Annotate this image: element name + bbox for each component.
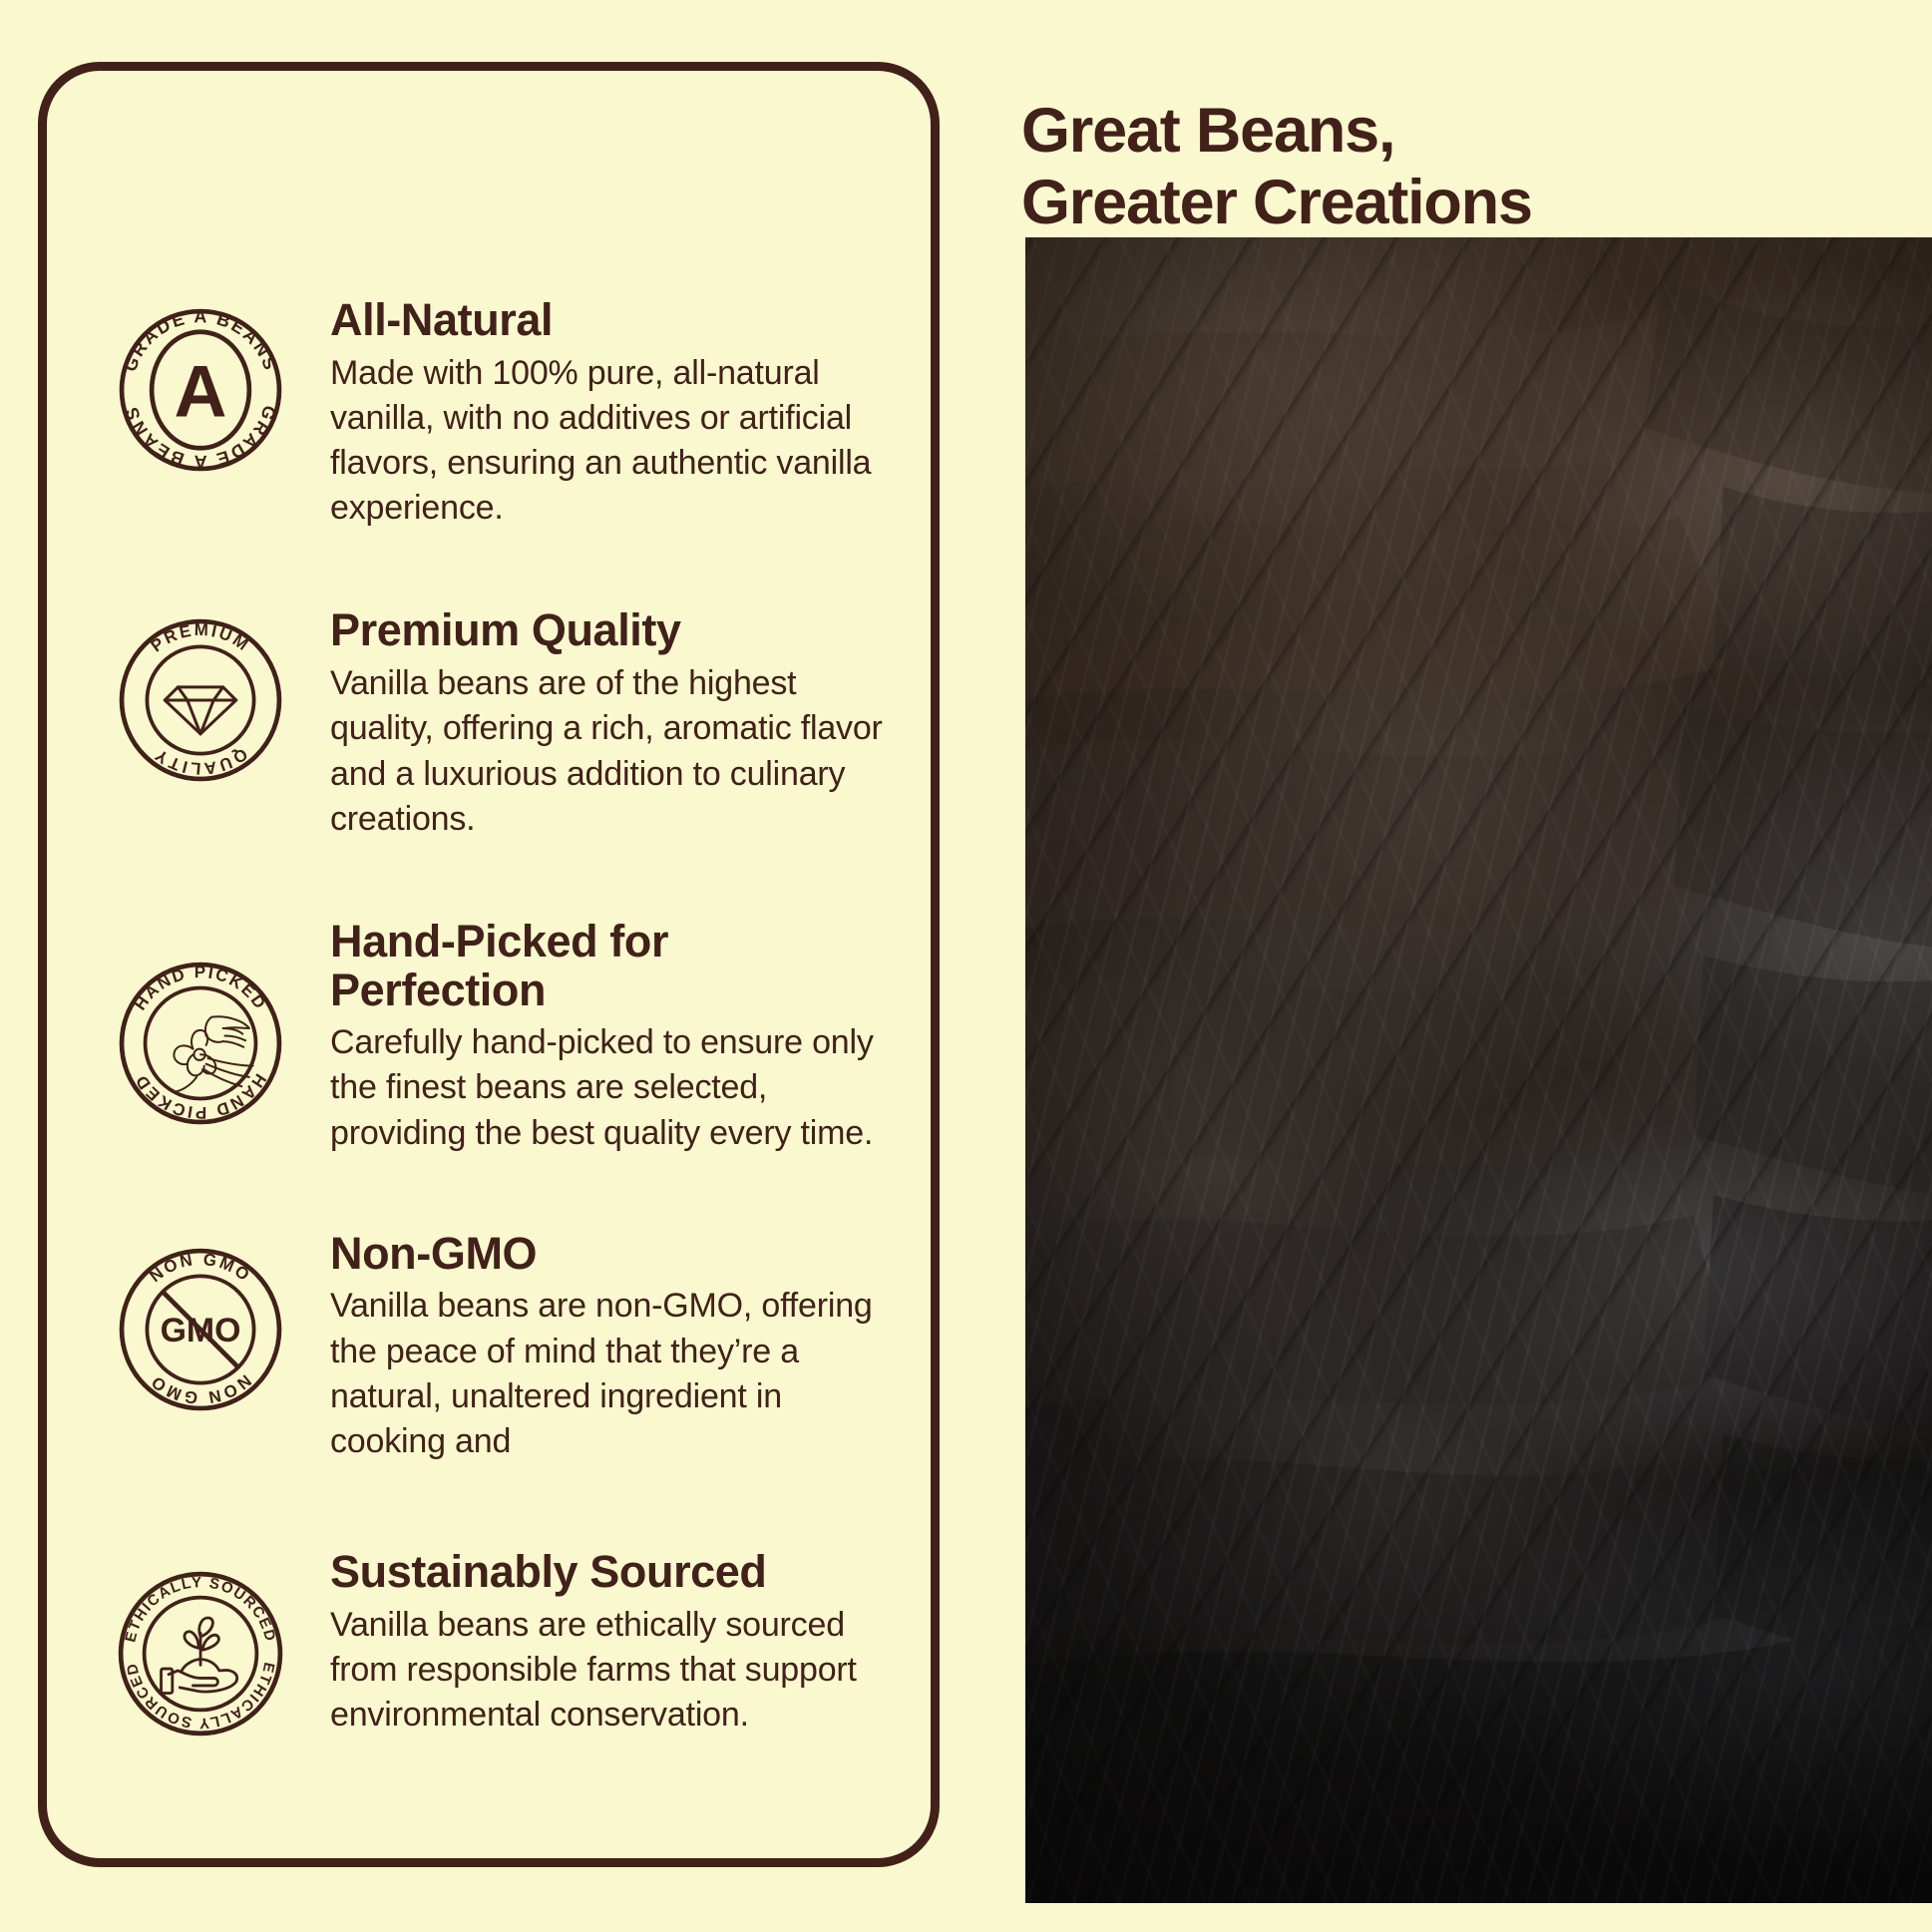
badge-top-text: PREMIUM — [148, 620, 254, 655]
feature-description: Vanilla beans are ethically sourced from… — [330, 1603, 891, 1739]
feature-title: Sustainably Sourced — [330, 1548, 891, 1597]
feature-item-sustainably-sourced: ETHICALLY SOURCED ETHICALLY SOURCED — [107, 1542, 891, 1747]
feature-title: Hand-Picked for Perfection — [330, 918, 891, 1014]
hand-holding-sprout-icon — [162, 1618, 237, 1693]
feature-text-block: Premium Quality Vanilla beans are of the… — [330, 600, 891, 841]
badge-bottom-text: NON GMO — [146, 1370, 254, 1407]
svg-text:HAND PICKED: HAND PICKED — [131, 1070, 270, 1122]
svg-text:NON GMO: NON GMO — [146, 1370, 254, 1407]
feature-list: GRADE A BEANS GRADE A BEANS A All-Natura… — [47, 71, 931, 1858]
right-column: Great Beans, Greater Creations — [1009, 0, 1932, 1932]
headline-line-1: Great Beans, — [1021, 96, 1919, 168]
badge-top-text: NON GMO — [146, 1250, 254, 1286]
non-gmo-badge: NON GMO NON GMO GMO — [107, 1236, 294, 1423]
feature-text-block: Hand-Picked for Perfection Carefully han… — [330, 912, 891, 1156]
feature-text-block: Non-GMO Vanilla beans are non-GMO, offer… — [330, 1224, 891, 1464]
feature-title: Premium Quality — [330, 606, 891, 655]
diamond-icon — [165, 687, 235, 734]
feature-description: Vanilla beans are non-GMO, offering the … — [330, 1284, 891, 1464]
feature-item-non-gmo: NON GMO NON GMO GMO Non-GMO Vanilla bean… — [107, 1224, 891, 1464]
photo-vignette — [1025, 237, 1932, 1903]
svg-text:PREMIUM: PREMIUM — [148, 620, 254, 655]
grade-a-beans-badge: GRADE A BEANS GRADE A BEANS A — [107, 296, 294, 484]
svg-text:NON GMO: NON GMO — [146, 1250, 254, 1286]
feature-description: Vanilla beans are of the highest quality… — [330, 661, 891, 842]
feature-description: Made with 100% pure, all-natural vanilla… — [330, 351, 891, 532]
infographic-page: GRADE A BEANS GRADE A BEANS A All-Natura… — [0, 0, 1932, 1932]
badge-center-letter: A — [175, 350, 227, 432]
page-headline: Great Beans, Greater Creations — [1021, 96, 1919, 239]
feature-title: Non-GMO — [330, 1230, 891, 1279]
feature-text-block: Sustainably Sourced Vanilla beans are et… — [330, 1542, 891, 1738]
feature-description: Carefully hand-picked to ensure only the… — [330, 1020, 891, 1156]
hand-picked-badge: HAND PICKED HAND PICKED — [107, 950, 294, 1137]
features-card: GRADE A BEANS GRADE A BEANS A All-Natura… — [38, 62, 940, 1867]
feature-item-premium-quality: PREMIUM QUALITY — [107, 600, 891, 841]
premium-quality-badge: PREMIUM QUALITY — [107, 606, 294, 794]
feature-item-all-natural: GRADE A BEANS GRADE A BEANS A All-Natura… — [107, 290, 891, 531]
feature-title: All-Natural — [330, 296, 891, 345]
feature-text-block: All-Natural Made with 100% pure, all-nat… — [330, 290, 891, 531]
badge-bottom-text: HAND PICKED — [131, 1070, 270, 1122]
headline-line-2: Greater Creations — [1021, 168, 1919, 239]
vanilla-beans-photo — [1025, 237, 1932, 1903]
feature-item-hand-picked: HAND PICKED HAND PICKED — [107, 912, 891, 1156]
ethically-sourced-badge: ETHICALLY SOURCED ETHICALLY SOURCED — [107, 1560, 294, 1747]
